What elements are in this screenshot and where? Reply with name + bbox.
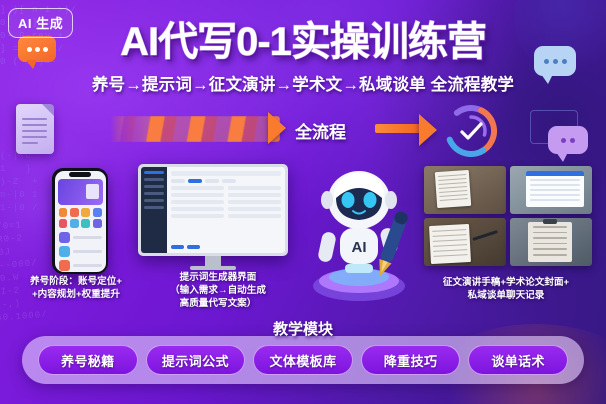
- module-pill-reduce[interactable]: 降重技巧: [361, 345, 461, 375]
- arrow-right-icon: [375, 124, 421, 133]
- page-subtitle: 养号→提示词→征文演讲→学术文→私域谈单 全流程教学: [0, 71, 606, 95]
- caption-phone: 养号阶段：账号定位+ +内容规划+权重提升: [6, 276, 146, 302]
- photo-grid: [424, 166, 592, 266]
- ribbon-streak-decoration: [110, 116, 280, 142]
- chat-bubble-icon: [18, 36, 56, 62]
- title-block: AI代写0-1实操训练营 养号→提示词→征文演讲→学术文→私域谈单 全流程教学: [0, 22, 606, 95]
- phone-mockup: [52, 168, 108, 274]
- ai-generated-badge: AI 生成: [8, 8, 73, 38]
- caption-monitor: 提示词生成器界面 （输入需求→自动生成 高质量代写文案）: [144, 272, 292, 311]
- flow-label: 全流程: [295, 118, 346, 143]
- photo-chat-record-window: [510, 166, 592, 214]
- ai-robot-mascot: AI: [300, 160, 418, 305]
- caption-photos: 征文演讲手稿+学术论文封面+ 私域谈单聊天记录: [410, 277, 602, 303]
- desktop-monitor-mockup: [138, 164, 288, 270]
- photo-clipboard-with-laptop: [510, 218, 592, 266]
- module-pill-yanghao[interactable]: 养号秘籍: [38, 345, 138, 375]
- modules-title: 教学模块: [0, 318, 606, 339]
- photo-clipboard-with-pen: [424, 218, 506, 266]
- module-pill-prompt[interactable]: 提示词公式: [146, 345, 246, 375]
- flow-row: 全流程: [0, 100, 606, 162]
- arrow-right-icon: [268, 112, 286, 144]
- page-title: AI代写0-1实操训练营: [0, 22, 606, 62]
- poster-canvas: 0/0=1 /R0-2 "0J 0--000/ /0.W /I-2 (-,) 4…: [0, 0, 606, 404]
- document-icon: [16, 104, 54, 154]
- arrow-right-icon: [419, 114, 437, 146]
- robot-chest-label: AI: [352, 239, 367, 256]
- module-pill-template[interactable]: 文体模板库: [253, 345, 353, 375]
- modules-panel: 养号秘籍 提示词公式 文体模板库 降重技巧 谈单话术: [22, 336, 584, 384]
- module-pill-sales[interactable]: 谈单话术: [468, 345, 568, 375]
- progress-ring-chart-icon: [440, 100, 502, 162]
- photo-handheld-manuscript: [424, 166, 506, 214]
